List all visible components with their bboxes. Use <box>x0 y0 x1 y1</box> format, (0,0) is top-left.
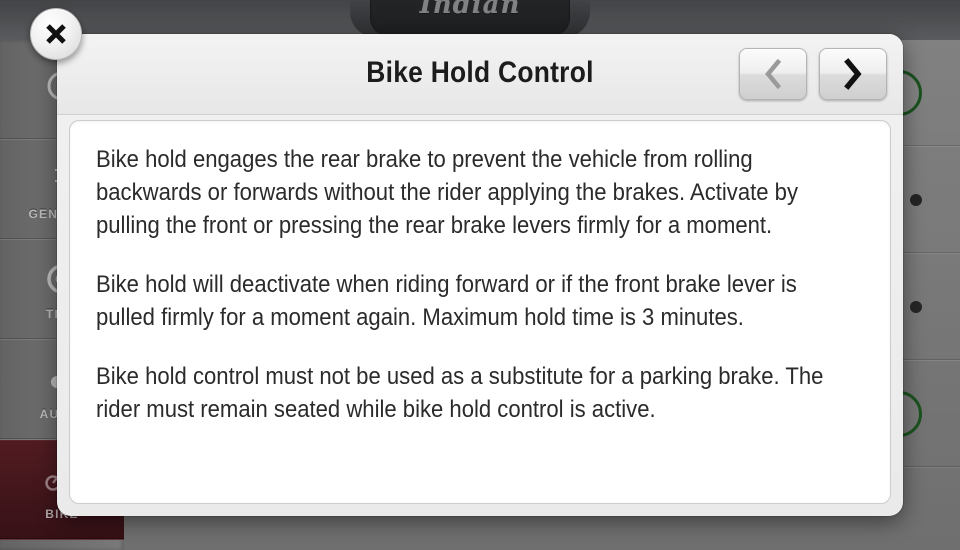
dialog-body: Bike hold engages the rear brake to prev… <box>69 120 891 504</box>
dialog-paragraph-3: Bike hold control must not be used as a … <box>96 360 859 426</box>
close-icon <box>43 21 69 47</box>
dialog-paragraph-2: Bike hold will deactivate when riding fo… <box>96 268 859 334</box>
info-dialog: Bike Hold Control Bike hold engages the … <box>57 34 903 516</box>
dialog-paragraph-1: Bike hold engages the rear brake to prev… <box>96 143 859 242</box>
app-screen: GENERAL TIRE AUDIO <box>0 0 960 550</box>
chevron-left-icon <box>762 58 784 90</box>
previous-page-button[interactable] <box>739 48 807 100</box>
dialog-header: Bike Hold Control <box>57 34 903 115</box>
next-page-button[interactable] <box>819 48 887 100</box>
close-dialog-button[interactable] <box>30 8 82 60</box>
chevron-right-icon <box>842 58 864 90</box>
dialog-nav-buttons <box>739 48 887 100</box>
